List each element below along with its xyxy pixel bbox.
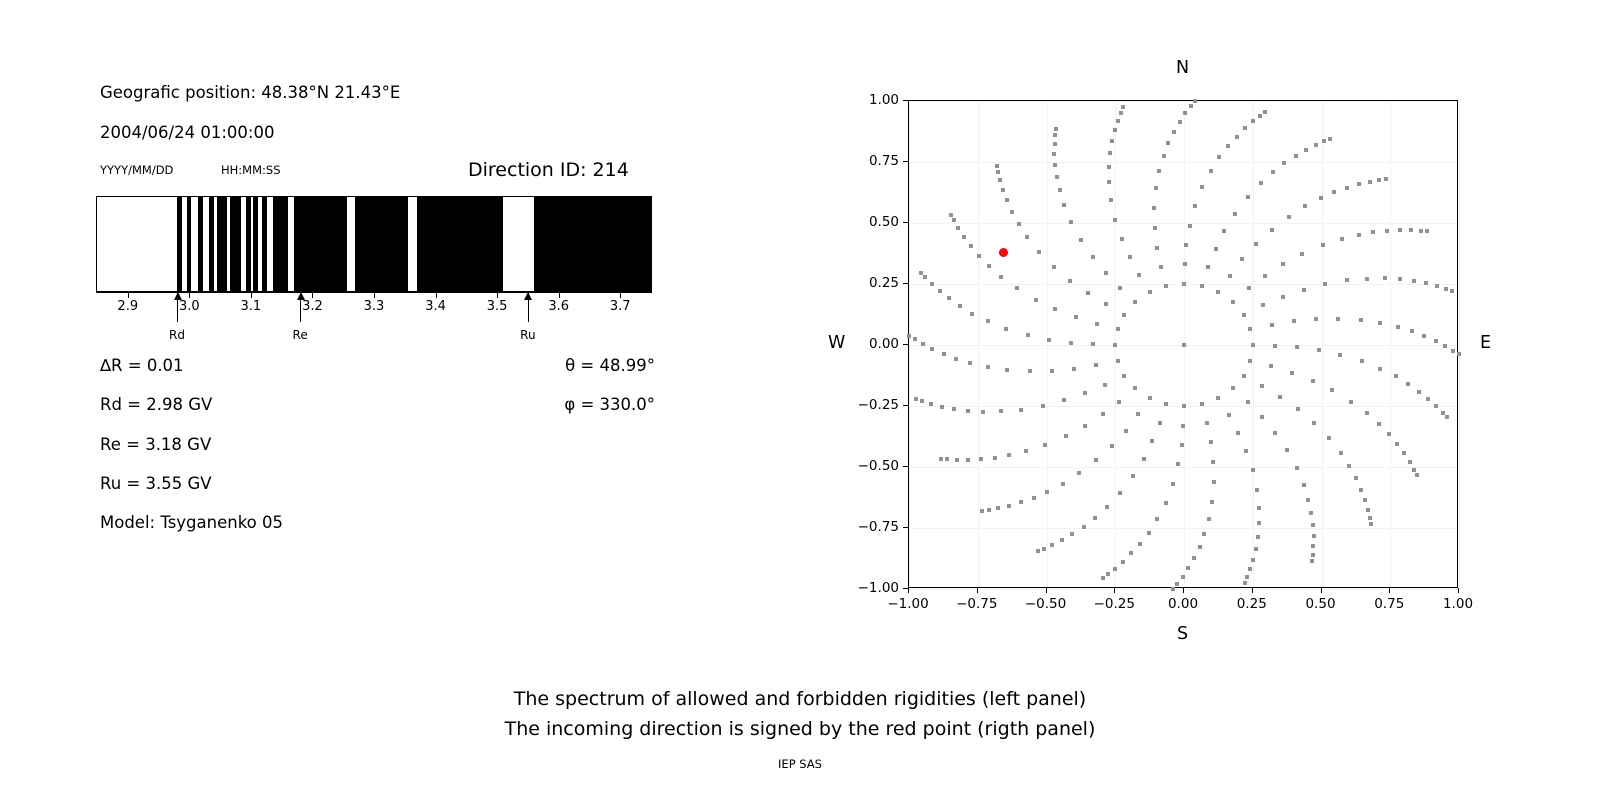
direction-grid-dot (1311, 523, 1315, 527)
direction-grid-dot (1236, 431, 1240, 435)
direction-grid-dot (1444, 287, 1448, 291)
direction-grid-dot (1171, 587, 1175, 591)
direction-grid-dot (1300, 252, 1304, 256)
direction-grid-dot (1122, 313, 1126, 317)
direction-grid-dot (1082, 525, 1086, 529)
direction-grid-dot (1378, 321, 1382, 325)
direction-grid-dot (1113, 218, 1117, 222)
direction-grid-dot (1302, 288, 1306, 292)
direction-grid-dot (1368, 180, 1372, 184)
direction-grid-dot (1360, 359, 1364, 363)
direction-grid-dot (1138, 542, 1142, 546)
forbidden-band (273, 197, 288, 291)
direction-grid-dot (1402, 451, 1406, 455)
time-format-label: HH:MM:SS (221, 163, 281, 177)
direction-grid-dot (1150, 439, 1154, 443)
direction-grid-dot (1287, 215, 1291, 219)
direction-grid-dot (1260, 415, 1264, 419)
y-axis-tick-label: −0.25 (858, 397, 899, 413)
direction-grid-dot (1200, 402, 1204, 406)
forbidden-band (355, 197, 408, 291)
direction-grid-dot (1183, 262, 1187, 266)
direction-grid-dot (1359, 488, 1363, 492)
direction-grid-dot (1117, 400, 1121, 404)
direction-grid-dot (1192, 556, 1196, 560)
direction-grid-dot (1007, 453, 1011, 457)
direction-grid-dot (1248, 359, 1252, 363)
direction-grid-dot (1070, 532, 1074, 536)
direction-grid-dot (1116, 327, 1120, 331)
forbidden-band (198, 197, 203, 291)
marker-label-rd: Rd (169, 328, 185, 342)
marker-label-ru: Ru (520, 328, 535, 342)
direction-grid-dot (1122, 374, 1126, 378)
direction-grid-dot (947, 296, 951, 300)
direction-grid-dot (1369, 522, 1373, 526)
direction-grid-dot (1387, 432, 1391, 436)
direction-grid-dot (1105, 505, 1109, 509)
direction-map-plot (908, 100, 1458, 588)
direction-grid-dot (1336, 317, 1340, 321)
direction-grid-dot (1010, 210, 1014, 214)
direction-grid-dot (1409, 228, 1413, 232)
direction-grid-dot (1323, 282, 1327, 286)
axis-tick-label: 3.1 (241, 299, 262, 314)
param-ru: Ru = 3.55 GV (100, 474, 212, 493)
direction-grid-dot (1202, 532, 1206, 536)
direction-grid-dot (981, 410, 985, 414)
direction-grid-dot (1055, 175, 1059, 179)
direction-grid-dot (913, 337, 917, 341)
direction-grid-dot (1061, 482, 1065, 486)
x-axis-tick (1321, 588, 1322, 593)
direction-grid-dot (1339, 451, 1343, 455)
direction-grid-dot (1053, 142, 1057, 146)
selected-direction-marker[interactable] (999, 248, 1008, 257)
y-axis-tick-label: 0.50 (869, 214, 899, 230)
direction-grid-dot (1064, 434, 1068, 438)
direction-grid-dot (1311, 544, 1315, 548)
direction-grid-dot (1094, 458, 1098, 462)
direction-grid-dot (1263, 274, 1267, 278)
direction-id-label: Direction ID: 214 (468, 159, 629, 181)
direction-grid-dot (1107, 180, 1111, 184)
direction-grid-dot (1410, 329, 1414, 333)
gridline-vertical (1390, 101, 1391, 587)
direction-grid-dot (1227, 413, 1231, 417)
direction-grid-dot (1015, 286, 1019, 290)
direction-grid-dot (966, 409, 970, 413)
x-axis-tick-label: 0.75 (1374, 596, 1404, 612)
axis-tick-label: 3.0 (179, 299, 200, 314)
direction-grid-dot (1383, 276, 1387, 280)
direction-grid-dot (1327, 436, 1331, 440)
direction-grid-dot (1152, 206, 1156, 210)
gridline-vertical (909, 101, 910, 587)
direction-grid-dot (1260, 384, 1264, 388)
forbidden-band (230, 197, 241, 291)
direction-grid-dot (1019, 408, 1023, 412)
direction-grid-dot (1216, 396, 1220, 400)
direction-grid-dot (1184, 243, 1188, 247)
direction-grid-dot (1270, 323, 1274, 327)
gridline-horizontal (909, 162, 1457, 163)
direction-grid-dot (1116, 119, 1120, 123)
direction-grid-dot (1347, 464, 1351, 468)
direction-grid-dot (952, 407, 956, 411)
direction-grid-dot (1251, 468, 1255, 472)
y-axis-tick-label: −1.00 (858, 580, 899, 596)
direction-grid-dot (962, 235, 966, 239)
direction-grid-dot (1231, 386, 1235, 390)
direction-grid-dot (1377, 422, 1381, 426)
direction-grid-dot (1263, 110, 1267, 114)
direction-grid-dot (1251, 343, 1255, 347)
y-axis-tick (903, 222, 908, 223)
x-axis-tick-label: 0.00 (1168, 596, 1198, 612)
direction-grid-dot (1322, 139, 1326, 143)
direction-grid-dot (996, 170, 1000, 174)
direction-grid-dot (1246, 400, 1250, 404)
x-axis-tick-label: 1.00 (1443, 596, 1473, 612)
direction-grid-dot (1338, 353, 1342, 357)
direction-grid-dot (1077, 471, 1081, 475)
direction-grid-dot (1157, 169, 1161, 173)
direction-grid-dot (1309, 511, 1313, 515)
direction-grid-dot (999, 275, 1003, 279)
x-axis-tick (908, 588, 909, 593)
direction-grid-dot (966, 458, 970, 462)
y-axis-tick (903, 527, 908, 528)
direction-grid-dot (1091, 255, 1095, 259)
cardinal-label-south: S (1177, 624, 1188, 644)
direction-grid-dot (1296, 407, 1300, 411)
direction-grid-dot (969, 244, 973, 248)
direction-grid-dot (1110, 139, 1114, 143)
direction-grid-dot (1254, 547, 1258, 551)
direction-grid-dot (1005, 198, 1009, 202)
x-axis-tick (1252, 588, 1253, 593)
direction-grid-dot (970, 312, 974, 316)
direction-grid-dot (1425, 229, 1429, 233)
direction-grid-dot (1294, 154, 1298, 158)
y-axis-tick-label: 0.00 (869, 336, 899, 352)
direction-grid-dot (1176, 462, 1180, 466)
direction-grid-dot (1043, 443, 1047, 447)
x-axis-tick-label: −0.75 (956, 596, 997, 612)
direction-grid-dot (1282, 161, 1286, 165)
y-axis-tick-label: 1.00 (869, 92, 899, 108)
direction-grid-dot (1209, 440, 1213, 444)
direction-grid-dot (1207, 517, 1211, 521)
direction-grid-dot (1147, 531, 1151, 535)
forbidden-band (177, 197, 182, 291)
direction-grid-dot (1340, 237, 1344, 241)
direction-grid-dot (1068, 279, 1072, 283)
direction-grid-dot (1303, 204, 1307, 208)
axis-tick-label: 2.9 (117, 299, 138, 314)
direction-grid-dot (1441, 411, 1445, 415)
direction-grid-dot (1290, 371, 1294, 375)
direction-grid-dot (1142, 457, 1146, 461)
direction-grid-dot (1069, 220, 1073, 224)
direction-grid-dot (1164, 402, 1168, 406)
direction-grid-dot (1248, 567, 1252, 571)
direction-grid-dot (1363, 498, 1367, 502)
direction-grid-dot (1233, 212, 1237, 216)
direction-grid-dot (1182, 404, 1186, 408)
direction-grid-dot (954, 357, 958, 361)
direction-grid-dot (1037, 250, 1041, 254)
direction-grid-dot (1295, 345, 1299, 349)
direction-grid-dot (1278, 395, 1282, 399)
direction-grid-dot (1248, 327, 1252, 331)
direction-grid-dot (995, 164, 999, 168)
direction-grid-dot (1312, 421, 1316, 425)
direction-grid-dot (1058, 188, 1062, 192)
direction-grid-dot (1113, 567, 1117, 571)
x-axis-tick-label: −1.00 (887, 596, 928, 612)
direction-grid-dot (1086, 291, 1090, 295)
direction-grid-dot (993, 456, 997, 460)
direction-grid-dot (1083, 391, 1087, 395)
direction-grid-dot (1024, 449, 1028, 453)
direction-grid-dot (1121, 560, 1125, 564)
forbidden-band (294, 197, 347, 291)
datetime-label: 2004/06/24 01:00:00 (100, 123, 274, 142)
direction-grid-dot (1155, 517, 1159, 521)
direction-grid-dot (1164, 284, 1168, 288)
forbidden-band (217, 197, 227, 291)
direction-grid-dot (1398, 228, 1402, 232)
axis-tick-label: 3.3 (364, 299, 385, 314)
direction-grid-dot (1398, 277, 1402, 281)
y-axis-tick-label: −0.75 (858, 519, 899, 535)
axis-tick (189, 293, 190, 298)
direction-grid-dot (1181, 575, 1185, 579)
forbidden-band (209, 197, 214, 291)
forbidden-band (262, 197, 267, 291)
direction-grid-dot (1317, 348, 1321, 352)
direction-grid-dot (1242, 313, 1246, 317)
direction-grid-dot (1251, 558, 1255, 562)
x-axis-tick-label: 0.25 (1237, 596, 1267, 612)
direction-grid-dot (1366, 508, 1370, 512)
direction-grid-dot (1178, 120, 1182, 124)
direction-grid-dot (1292, 319, 1296, 323)
direction-grid-dot (1180, 443, 1184, 447)
direction-grid-dot (1186, 566, 1190, 570)
marker-arrow-ru (528, 292, 529, 322)
footer-label: IEP SAS (0, 757, 1600, 771)
direction-grid-dot (1060, 538, 1064, 542)
direction-grid-dot (1445, 415, 1449, 419)
direction-grid-dot (1017, 222, 1021, 226)
direction-grid-dot (1200, 284, 1204, 288)
direction-grid-dot (1245, 575, 1249, 579)
caption-line-2: The incoming direction is signed by the … (0, 718, 1600, 740)
direction-grid-dot (1124, 429, 1128, 433)
direction-grid-dot (987, 508, 991, 512)
direction-grid-dot (1365, 411, 1369, 415)
direction-grid-dot (1116, 359, 1120, 363)
direction-grid-dot (907, 334, 911, 338)
x-axis-tick (1458, 588, 1459, 593)
direction-grid-dot (1162, 154, 1166, 158)
rigidity-spectrum-barcode (96, 196, 652, 292)
direction-grid-dot (1261, 303, 1265, 307)
direction-grid-dot (1083, 424, 1087, 428)
param-rd: Rd = 2.98 GV (100, 395, 212, 414)
direction-grid-dot (1330, 388, 1334, 392)
axis-tick-label: 3.7 (610, 299, 631, 314)
direction-grid-dot (1042, 547, 1046, 551)
direction-grid-dot (1434, 404, 1438, 408)
direction-grid-dot (1052, 152, 1056, 156)
direction-grid-dot (1148, 396, 1152, 400)
direction-grid-dot (979, 457, 983, 461)
direction-grid-dot (1332, 190, 1336, 194)
param-delta-r: ∆R = 0.01 (100, 356, 184, 375)
y-axis-tick (903, 283, 908, 284)
y-axis-tick (903, 161, 908, 162)
x-axis-tick (1183, 588, 1184, 593)
y-axis-tick-label: 0.75 (869, 153, 899, 169)
direction-grid-dot (1171, 482, 1175, 486)
param-theta: θ = 48.99° (565, 356, 655, 375)
direction-grid-dot (1269, 364, 1273, 368)
direction-grid-dot (1247, 286, 1251, 290)
direction-grid-dot (999, 409, 1003, 413)
direction-grid-dot (1314, 317, 1318, 321)
direction-grid-dot (949, 213, 953, 217)
direction-grid-dot (1378, 367, 1382, 371)
direction-grid-dot (1217, 155, 1221, 159)
direction-grid-dot (980, 509, 984, 513)
direction-grid-dot (923, 275, 927, 279)
param-phi: φ = 330.0° (564, 395, 655, 414)
direction-grid-dot (1212, 480, 1216, 484)
cardinal-label-east: E (1480, 333, 1491, 353)
direction-grid-dot (942, 352, 946, 356)
direction-grid-dot (1133, 300, 1137, 304)
x-axis-tick (1046, 588, 1047, 593)
direction-grid-dot (1270, 228, 1274, 232)
direction-grid-dot (1319, 196, 1323, 200)
direction-grid-dot (1079, 238, 1083, 242)
direction-grid-dot (1120, 237, 1124, 241)
y-axis-tick-label: −0.50 (858, 458, 899, 474)
cardinal-label-west: W (828, 333, 845, 353)
direction-grid-dot (987, 264, 991, 268)
direction-grid-dot (1321, 243, 1325, 247)
date-format-label: YYYY/MM/DD (100, 163, 173, 177)
direction-grid-dot (1281, 295, 1285, 299)
direction-grid-dot (1216, 290, 1220, 294)
forbidden-band (187, 197, 192, 291)
direction-grid-dot (977, 254, 981, 258)
direction-grid-dot (1214, 247, 1218, 251)
axis-tick (374, 293, 375, 298)
direction-grid-dot (1443, 344, 1447, 348)
gridline-vertical (978, 101, 979, 587)
direction-grid-dot (1005, 368, 1009, 372)
direction-grid-dot (1137, 273, 1141, 277)
direction-grid-dot (1052, 265, 1056, 269)
marker-arrow-re (300, 292, 301, 322)
axis-tick (436, 293, 437, 298)
direction-grid-dot (1285, 448, 1289, 452)
axis-tick (312, 293, 313, 298)
direction-grid-dot (1062, 398, 1066, 402)
direction-grid-dot (1028, 369, 1032, 373)
direction-grid-dot (1108, 151, 1112, 155)
direction-grid-dot (1153, 226, 1157, 230)
direction-grid-dot (945, 457, 949, 461)
direction-grid-dot (1025, 235, 1029, 239)
direction-grid-dot (1254, 242, 1258, 246)
direction-grid-dot (940, 405, 944, 409)
direction-grid-dot (1001, 188, 1005, 192)
direction-grid-dot (1113, 343, 1117, 347)
direction-grid-dot (1243, 581, 1247, 585)
direction-grid-dot (1047, 338, 1051, 342)
direction-grid-dot (1054, 127, 1058, 131)
direction-grid-dot (1188, 224, 1192, 228)
direction-grid-dot (1419, 229, 1423, 233)
direction-grid-dot (1312, 534, 1316, 538)
direction-grid-dot (1311, 553, 1315, 557)
geographic-position-label: Geografic position: 48.38°N 21.43°E (100, 83, 400, 102)
direction-grid-dot (1257, 506, 1261, 510)
gridline-vertical (1047, 101, 1048, 587)
direction-grid-dot (1354, 476, 1358, 480)
direction-grid-dot (1257, 521, 1261, 525)
direction-grid-dot (1251, 119, 1255, 123)
direction-grid-dot (1072, 367, 1076, 371)
direction-grid-dot (1074, 315, 1078, 319)
direction-grid-dot (921, 342, 925, 346)
direction-grid-dot (914, 397, 918, 401)
direction-grid-dot (998, 178, 1002, 182)
direction-grid-dot (1118, 286, 1122, 290)
direction-grid-dot (1181, 424, 1185, 428)
direction-grid-dot (1209, 169, 1213, 173)
forbidden-band (246, 197, 251, 291)
direction-grid-dot (1041, 404, 1045, 408)
forbidden-band (534, 197, 651, 291)
direction-grid-dot (1172, 130, 1176, 134)
x-axis-tick-label: 0.50 (1305, 596, 1335, 612)
direction-grid-dot (1273, 431, 1277, 435)
direction-grid-dot (1131, 474, 1135, 478)
y-axis-tick (903, 100, 908, 101)
direction-grid-dot (1395, 442, 1399, 446)
direction-grid-dot (1036, 549, 1040, 553)
direction-grid-dot (1107, 165, 1111, 169)
direction-grid-dot (1154, 186, 1158, 190)
direction-grid-dot (939, 457, 943, 461)
direction-grid-dot (1034, 298, 1038, 302)
y-axis-tick (903, 344, 908, 345)
direction-grid-dot (1231, 300, 1235, 304)
direction-grid-dot (1091, 342, 1095, 346)
direction-grid-dot (1426, 397, 1430, 401)
direction-grid-dot (1053, 133, 1057, 137)
direction-grid-dot (1136, 412, 1140, 416)
direction-grid-dot (1106, 572, 1110, 576)
x-axis-tick-label: −0.50 (1025, 596, 1066, 612)
